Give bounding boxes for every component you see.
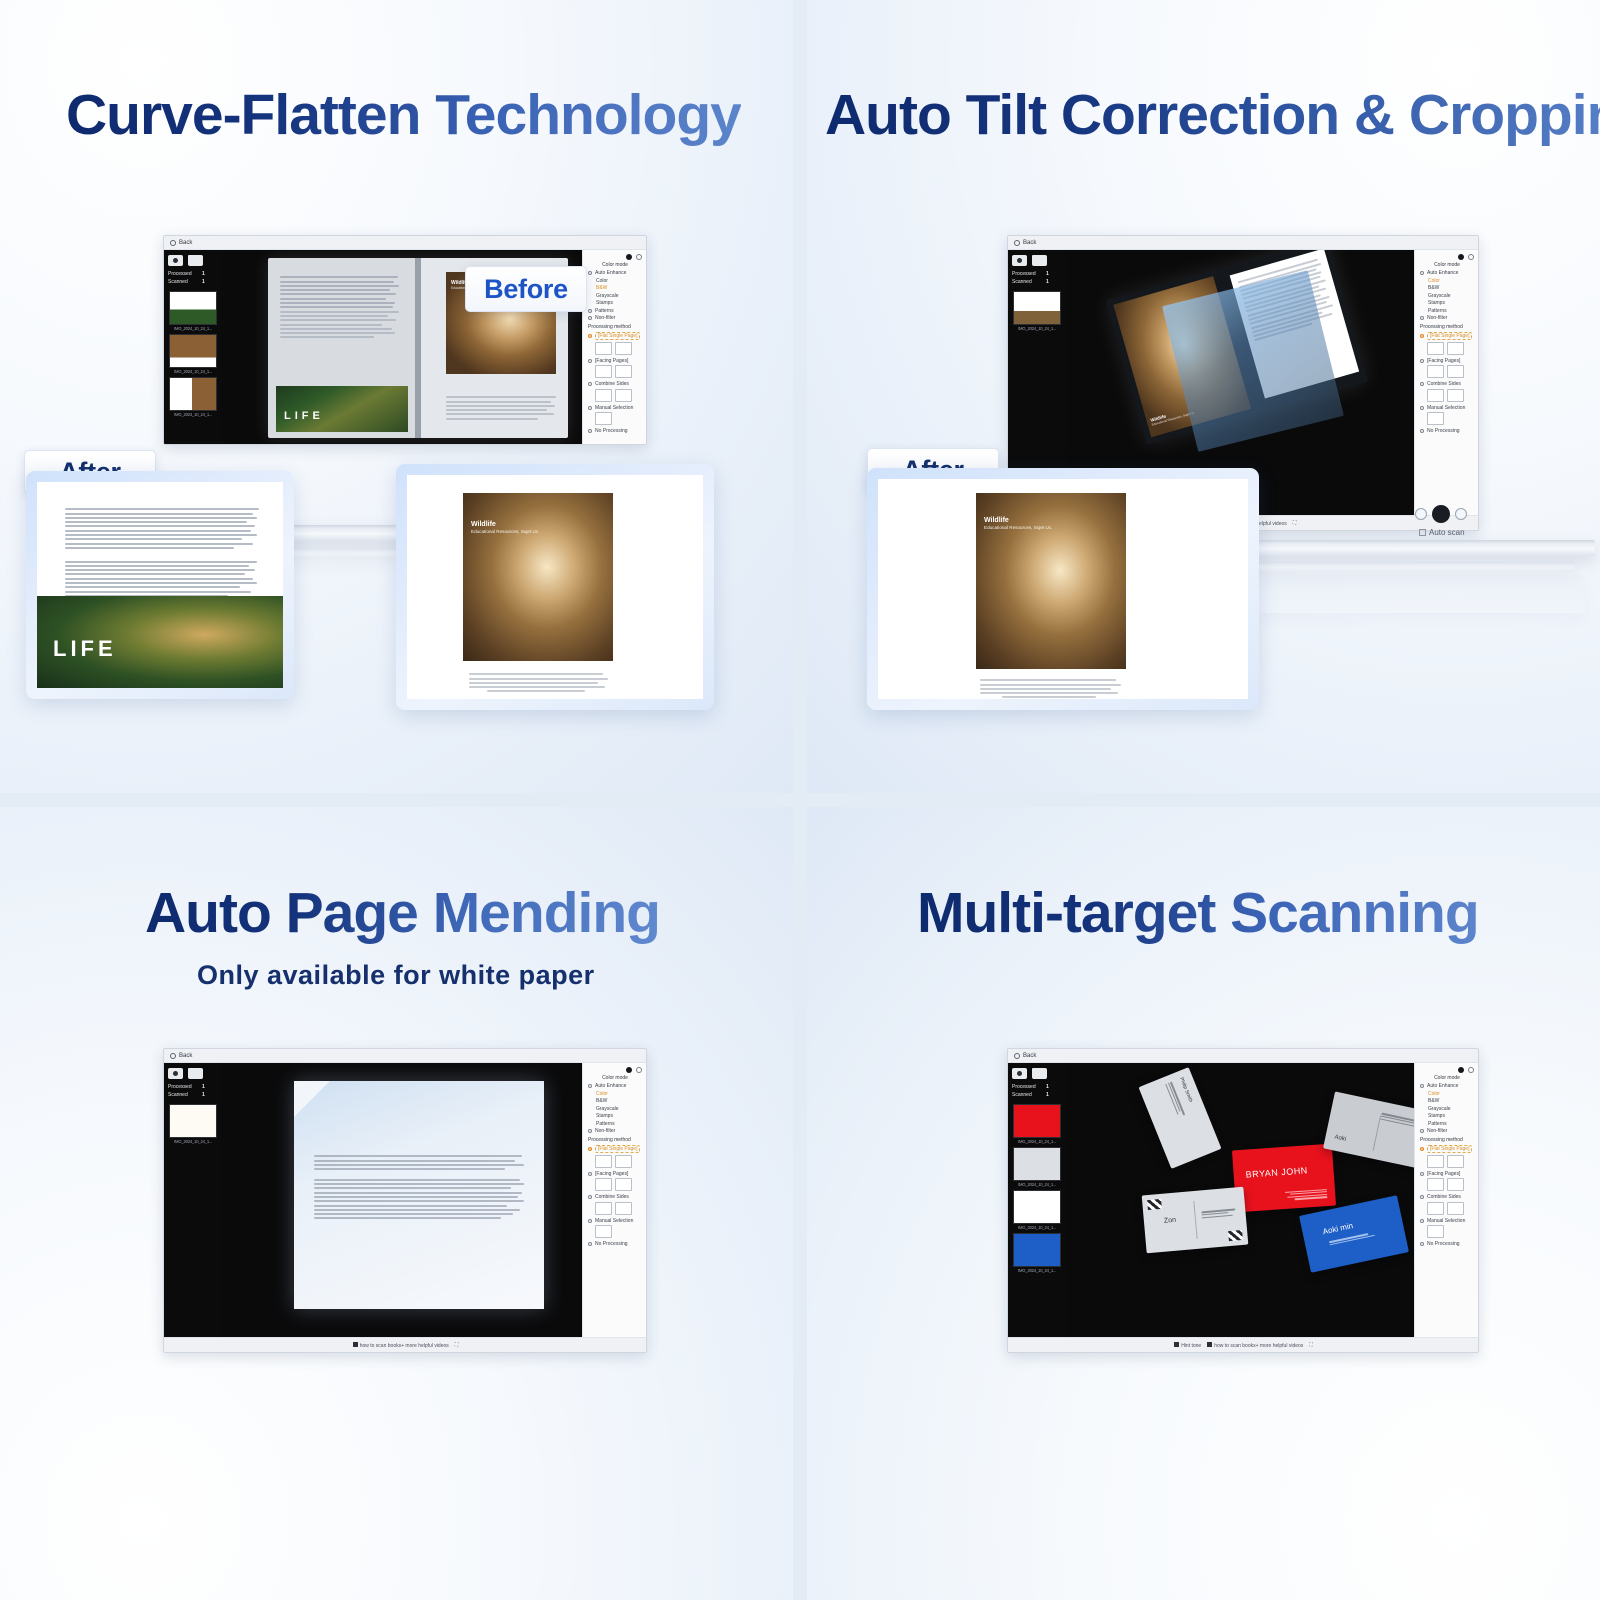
stats: Processed1 Scanned1: [168, 271, 218, 287]
business-card-zon[interactable]: Zon: [1142, 1187, 1249, 1254]
after-result-right: Wildlife Educational Resources, Sujet Uc…: [396, 464, 714, 710]
panel-subtitle: Only available for white paper: [197, 960, 595, 991]
back-button[interactable]: Back: [1014, 1053, 1036, 1059]
help-link[interactable]: how to scan books+ more helpful videos: [353, 1342, 449, 1349]
option-grayscale[interactable]: Grayscale: [588, 293, 642, 299]
option-bw[interactable]: B&W: [1420, 1098, 1474, 1104]
combine-sides-icon[interactable]: [595, 1202, 612, 1215]
scanner-window: Back Processed1 Scanned1: [1007, 1048, 1479, 1353]
back-button[interactable]: Back: [1014, 240, 1036, 246]
help-link[interactable]: how to scan books+ more helpful videos: [1207, 1342, 1303, 1349]
right-page-text: [446, 394, 558, 432]
feature-grid: Curve-Flatten Technology Back: [0, 0, 1600, 1600]
panel-auto-page-mending: Auto Page Mending Only available for whi…: [0, 807, 793, 1600]
radio-icon: [1420, 1195, 1424, 1199]
facing-pages-alt-icon[interactable]: [1447, 365, 1464, 378]
thumbnail-item[interactable]: IMG_2024_10_24_1...: [1013, 1104, 1061, 1144]
gear-icon[interactable]: [1468, 1067, 1474, 1073]
option-combine-sides[interactable]: Combine Sides: [1420, 1194, 1474, 1200]
radio-icon: [588, 271, 592, 275]
radio-icon: [588, 1172, 592, 1176]
combine-sides-alt-icon[interactable]: [615, 1202, 632, 1215]
folder-icon[interactable]: [188, 255, 203, 266]
option-combine-sides[interactable]: Combine Sides: [588, 381, 642, 387]
radio-icon: [588, 1219, 592, 1223]
wildlife-label: Wildlife Educational Resources, Sujet Uc…: [984, 517, 1052, 530]
option-flat-single-page[interactable]: [Flat Single Page]: [1420, 332, 1474, 340]
back-arrow-icon: [170, 1053, 176, 1059]
camera-icon[interactable]: [1012, 255, 1027, 266]
option-facing-pages[interactable]: [Facing Pages]: [588, 1171, 642, 1177]
page-text-block: [314, 1153, 526, 1222]
radio-icon: [588, 1129, 592, 1133]
video-icon: [353, 1342, 358, 1347]
window-topbar: Back: [1008, 236, 1478, 250]
combine-sides-icon[interactable]: [1427, 389, 1444, 402]
facing-pages-alt-icon[interactable]: [615, 1178, 632, 1191]
option-flat-single-page[interactable]: [Flat Single Page]: [1420, 1145, 1474, 1153]
radio-icon: [1420, 359, 1424, 363]
option-no-processing[interactable]: No Processing: [588, 428, 642, 434]
option-color[interactable]: Color: [588, 1091, 642, 1097]
expand-icon[interactable]: ⛶: [1309, 1342, 1312, 1348]
radio-icon: [1420, 406, 1424, 410]
business-card-philip[interactable]: Philip Smith: [1138, 1067, 1221, 1169]
panel-curve-flatten: Curve-Flatten Technology Back: [0, 0, 793, 793]
option-combine-sides[interactable]: Combine Sides: [588, 1194, 642, 1200]
before-tag: Before: [465, 266, 587, 312]
option-no-processing[interactable]: No Processing: [588, 1241, 642, 1247]
option-color[interactable]: Color: [588, 278, 642, 284]
video-icon: [1207, 1342, 1212, 1347]
manual-selection-icon[interactable]: [595, 1225, 612, 1238]
settings-icon[interactable]: [1455, 508, 1467, 520]
option-grayscale[interactable]: Grayscale: [1420, 293, 1474, 299]
option-flat-single-page[interactable]: [Flat Single Page]: [588, 332, 642, 340]
panel-auto-tilt: Auto Tilt Correction & Cropping Back: [807, 0, 1600, 793]
auto-scan-toggle[interactable]: Auto scan: [1419, 528, 1465, 537]
after-result-left: LIFE: [26, 471, 294, 699]
radio-icon: [588, 1195, 592, 1199]
back-arrow-icon: [1014, 1053, 1020, 1059]
scan-canvas[interactable]: Philip Smith BRYAN JOHN: [1066, 1063, 1414, 1337]
option-non-filter[interactable]: Non-filter: [588, 315, 642, 321]
option-stamps[interactable]: Stamps: [1420, 300, 1474, 306]
combine-sides-icon[interactable]: [1427, 1202, 1444, 1215]
option-manual-selection[interactable]: Manual Selection: [1420, 1218, 1474, 1224]
business-card-bryan-red[interactable]: BRYAN JOHN: [1232, 1144, 1336, 1213]
scanned-label: Scanned: [168, 279, 202, 287]
option-patterns[interactable]: Patterns: [1420, 1121, 1474, 1127]
option-color[interactable]: Color: [1420, 1091, 1474, 1097]
panel-title: Auto Tilt Correction & Cropping: [825, 82, 1600, 148]
stats: Processed1 Scanned1: [1012, 271, 1062, 287]
option-non-filter[interactable]: Non-filter: [1420, 1128, 1474, 1134]
combine-sides-alt-icon[interactable]: [1447, 389, 1464, 402]
radio-icon: [1420, 1129, 1424, 1133]
radio-icon: [1420, 271, 1424, 275]
option-stamps[interactable]: Stamps: [588, 300, 642, 306]
radio-icon: [1420, 382, 1424, 386]
radio-icon: [588, 334, 592, 338]
stats: Processed1 Scanned1: [168, 1084, 218, 1100]
combine-sides-icon[interactable]: [595, 389, 612, 402]
radio-icon: [1420, 429, 1424, 433]
option-facing-pages[interactable]: [Facing Pages]: [1420, 358, 1474, 364]
flat-single-page-alt-icon[interactable]: [1447, 1155, 1464, 1168]
life-title: LIFE: [53, 636, 117, 662]
processed-label: Processed: [168, 271, 202, 279]
thumbnail-item[interactable]: IMG_2024_10_24_1...: [169, 1104, 217, 1144]
combine-sides-alt-icon[interactable]: [615, 389, 632, 402]
thumbnail-item[interactable]: IMG_2024_10_24_1...: [169, 334, 217, 374]
back-label: Back: [179, 240, 192, 246]
radio-icon: [1420, 316, 1424, 320]
option-non-filter[interactable]: Non-filter: [1420, 315, 1474, 321]
thumbnail-item[interactable]: IMG_2024_10_24_1...: [169, 291, 217, 331]
bottom-bar: Hint tone how to scan books+ more helpfu…: [1008, 1337, 1478, 1352]
after-result: Wildlife Educational Resources, Sujet Uc…: [867, 468, 1259, 710]
manual-selection-icon[interactable]: [1427, 1225, 1444, 1238]
option-manual-selection[interactable]: Manual Selection: [1420, 405, 1474, 411]
option-patterns[interactable]: Patterns: [1420, 308, 1474, 314]
option-patterns[interactable]: Patterns: [588, 308, 642, 314]
radio-icon: [1420, 334, 1424, 338]
thumbnail-item[interactable]: IMG_2024_10_24_1...: [169, 377, 217, 417]
page-caption-text: [469, 671, 609, 699]
thumbnail-item[interactable]: IMG_2024_10_24_1...: [1013, 1190, 1061, 1230]
panel-title: Auto Page Mending: [145, 880, 660, 946]
settings-panel: Color mode Auto Enhance Color B&W Graysc…: [1414, 1063, 1478, 1337]
flat-single-page-alt-icon[interactable]: [1447, 342, 1464, 355]
radio-icon: [588, 406, 592, 410]
left-rail: Processed1 Scanned1 IMG_2024_10_24_1...: [164, 1063, 222, 1337]
life-cover-photo: LIFE: [37, 596, 283, 688]
panel-multi-target: Multi-target Scanning Back: [807, 807, 1600, 1600]
folder-icon[interactable]: [188, 1068, 203, 1079]
flat-single-page-icon[interactable]: [1427, 342, 1444, 355]
scan-target-icon[interactable]: [1432, 505, 1450, 523]
window-topbar: Back: [1008, 1049, 1478, 1063]
option-grayscale[interactable]: Grayscale: [1420, 1106, 1474, 1112]
option-non-filter[interactable]: Non-filter: [588, 1128, 642, 1134]
settings-panel: Color mode Auto Enhance Color B&W Graysc…: [1414, 250, 1478, 515]
bottom-bar: how to scan books+ more helpful videos ⛶: [164, 1337, 646, 1352]
option-flat-single-page[interactable]: [Flat Single Page]: [588, 1145, 642, 1153]
torn-corner: [294, 1081, 330, 1117]
life-cover-photo: LIFE: [276, 386, 408, 432]
gear-icon[interactable]: [1468, 254, 1474, 260]
window-topbar: Back: [164, 1049, 646, 1063]
settings-dot-icon[interactable]: [626, 1067, 632, 1073]
camera-icon[interactable]: [1012, 1068, 1027, 1079]
left-rail: Processed1 Scanned1 IMG_2024_10_24_1... …: [164, 250, 222, 444]
option-auto-enhance[interactable]: Auto Enhance: [588, 1083, 642, 1089]
manual-selection-icon[interactable]: [1427, 412, 1444, 425]
option-auto-enhance[interactable]: Auto Enhance: [1420, 1083, 1474, 1089]
thumbnail-caption: IMG_2024_10_24_1...: [169, 326, 217, 331]
flat-single-page-alt-icon[interactable]: [615, 1155, 632, 1168]
stats: Processed1 Scanned1: [1012, 1084, 1062, 1100]
expand-icon[interactable]: ⛶: [455, 1342, 458, 1348]
settings-dot-icon[interactable]: [1458, 1067, 1464, 1073]
option-no-processing[interactable]: No Processing: [1420, 1241, 1474, 1247]
facing-pages-icon[interactable]: [1427, 365, 1444, 378]
flat-single-page-icon[interactable]: [1427, 1155, 1444, 1168]
flat-single-page-icon[interactable]: [595, 1155, 612, 1168]
option-combine-sides[interactable]: Combine Sides: [1420, 381, 1474, 387]
wildlife-label: Wildlife Educational Resources, Sujet Uc…: [471, 521, 539, 534]
color-mode-title: Color mode: [588, 262, 642, 268]
radio-icon: [1420, 1219, 1424, 1223]
radio-icon: [588, 316, 592, 320]
thumbnail-item[interactable]: IMG_2024_10_24_1...: [1013, 291, 1061, 331]
business-card-aoki-gray[interactable]: Aoki: [1323, 1091, 1414, 1168]
hint-tone-toggle[interactable]: Hint tone: [1174, 1342, 1201, 1349]
radio-icon: [588, 359, 592, 363]
checkbox-icon[interactable]: [1419, 529, 1426, 536]
radio-icon: [588, 309, 592, 313]
option-facing-pages[interactable]: [Facing Pages]: [588, 358, 642, 364]
settings-dot-icon[interactable]: [1458, 254, 1464, 260]
panel-title: Multi-target Scanning: [917, 880, 1479, 946]
back-button[interactable]: Back: [170, 240, 192, 246]
facing-pages-alt-icon[interactable]: [615, 365, 632, 378]
thumbnail-item[interactable]: IMG_2024_10_24_1...: [1013, 1233, 1061, 1273]
radio-icon: [588, 429, 592, 433]
expand-icon[interactable]: ⛶: [1293, 520, 1296, 526]
scanner-window: Back Processed1 Scanned1: [163, 1048, 647, 1353]
option-stamps[interactable]: Stamps: [588, 1113, 642, 1119]
facing-pages-icon[interactable]: [595, 1178, 612, 1191]
option-manual-selection[interactable]: Manual Selection: [588, 1218, 642, 1224]
flat-single-page-alt-icon[interactable]: [615, 342, 632, 355]
camera-icon[interactable]: [168, 255, 183, 266]
option-patterns[interactable]: Patterns: [588, 1121, 642, 1127]
left-rail: Processed1 Scanned1 IMG_2024_10_24_1... …: [1008, 1063, 1066, 1337]
device-controls: [1415, 505, 1467, 523]
back-button[interactable]: Back: [170, 1053, 192, 1059]
facing-pages-alt-icon[interactable]: [1447, 1178, 1464, 1191]
radio-icon: [1420, 1147, 1424, 1151]
radio-icon: [588, 1242, 592, 1246]
radio-icon: [588, 1147, 592, 1151]
radio-icon: [1420, 1172, 1424, 1176]
option-auto-enhance[interactable]: Auto Enhance: [588, 270, 642, 276]
option-auto-enhance[interactable]: Auto Enhance: [1420, 270, 1474, 276]
folder-icon[interactable]: [1032, 1068, 1047, 1079]
life-title: LIFE: [284, 410, 324, 422]
flat-single-page-icon[interactable]: [595, 342, 612, 355]
owl-photo: Wildlife Educational Resources, Sujet Uc…: [463, 493, 613, 661]
settings-panel: Color mode Auto Enhance Color B&W Graysc…: [582, 250, 646, 444]
scan-canvas[interactable]: [222, 1063, 582, 1337]
radio-icon: [588, 382, 592, 386]
facing-pages-icon[interactable]: [1427, 1178, 1444, 1191]
option-grayscale[interactable]: Grayscale: [588, 1106, 642, 1112]
option-bw[interactable]: B&W: [1420, 285, 1474, 291]
manual-selection-icon[interactable]: [595, 412, 612, 425]
hint-tone-icon: [1174, 1342, 1179, 1347]
camera-icon[interactable]: [168, 1068, 183, 1079]
gear-icon[interactable]: [636, 1067, 642, 1073]
radio-icon: [588, 1084, 592, 1088]
panel-title: Curve-Flatten Technology: [66, 82, 741, 148]
settings-panel: Color mode Auto Enhance Color B&W Graysc…: [582, 1063, 646, 1337]
combine-sides-alt-icon[interactable]: [1447, 1202, 1464, 1215]
gear-icon[interactable]: [636, 254, 642, 260]
option-color[interactable]: Color: [1420, 278, 1474, 284]
processed-value: 1: [202, 271, 205, 277]
option-no-processing[interactable]: No Processing: [1420, 428, 1474, 434]
back-arrow-icon: [170, 240, 176, 246]
window-topbar: Back: [164, 236, 646, 250]
thumbnail-caption: IMG_2024_10_24_1...: [169, 369, 217, 374]
owl-photo: Wildlife Educational Resources, Sujet Uc…: [976, 493, 1126, 669]
settings-dot-icon[interactable]: [626, 254, 632, 260]
option-facing-pages[interactable]: [Facing Pages]: [1420, 1171, 1474, 1177]
radio-icon: [1420, 1084, 1424, 1088]
option-bw[interactable]: B&W: [588, 285, 642, 291]
back-arrow-icon: [1014, 240, 1020, 246]
left-page-text: [280, 274, 400, 394]
thumbnail-caption: IMG_2024_10_24_1...: [169, 412, 217, 417]
processing-title: Processing method: [588, 324, 642, 330]
mended-page: [294, 1081, 544, 1309]
page-caption-text: [980, 677, 1122, 699]
option-bw[interactable]: B&W: [588, 1098, 642, 1104]
thumbnail-item[interactable]: IMG_2024_10_24_1...: [1013, 1147, 1061, 1187]
folder-icon[interactable]: [1032, 255, 1047, 266]
option-stamps[interactable]: Stamps: [1420, 1113, 1474, 1119]
radio-icon: [1420, 1242, 1424, 1246]
power-icon[interactable]: [1415, 508, 1427, 520]
scanned-value: 1: [202, 279, 205, 285]
facing-pages-icon[interactable]: [595, 365, 612, 378]
option-manual-selection[interactable]: Manual Selection: [588, 405, 642, 411]
